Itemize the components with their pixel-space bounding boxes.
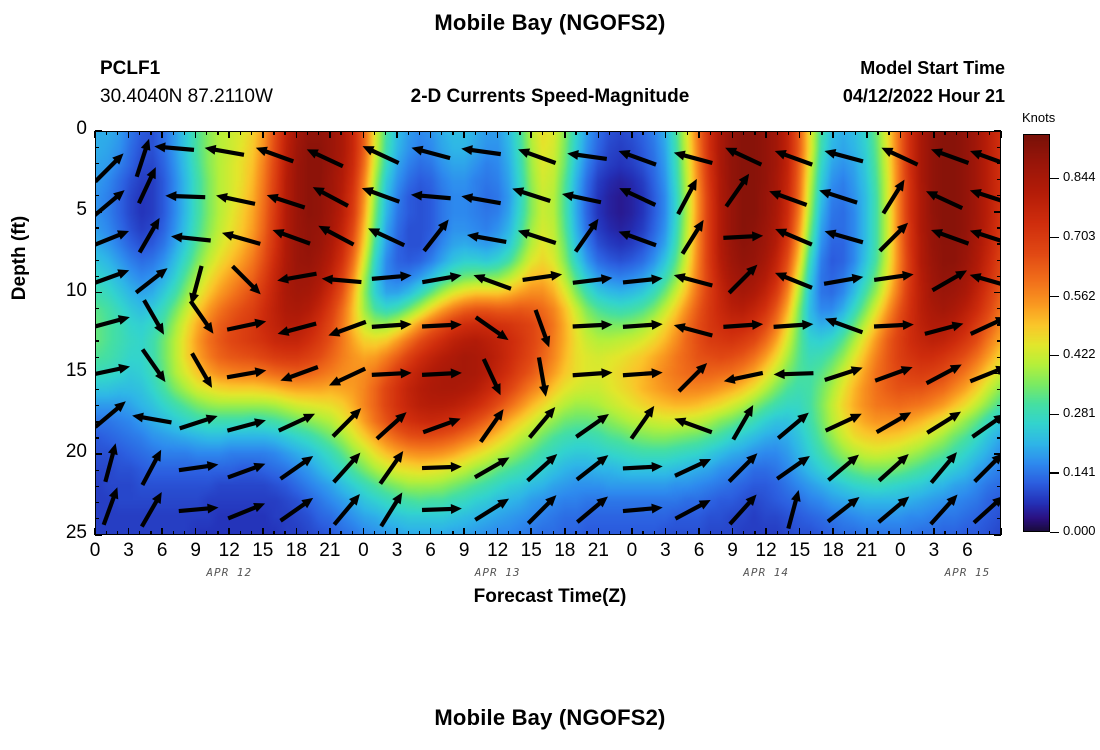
- current-vector-arrow: [567, 150, 607, 160]
- x-axis-minor-tick: [240, 131, 241, 135]
- current-vector-arrow: [777, 456, 810, 479]
- current-vector-arrow: [825, 318, 863, 333]
- current-vector-arrow: [481, 409, 504, 442]
- current-vector-arrow: [576, 414, 609, 437]
- current-vector-arrow: [278, 324, 317, 336]
- current-vector-arrow: [674, 418, 712, 433]
- current-vector-arrow: [819, 189, 857, 203]
- x-axis-minor-tick: [676, 531, 677, 535]
- x-axis-tick: [1000, 131, 1002, 138]
- x-axis-tick: [967, 528, 969, 535]
- current-vector-arrow: [368, 228, 404, 245]
- x-axis-tick: [598, 131, 600, 138]
- current-vector-arrow: [775, 150, 812, 165]
- current-vector-arrow: [476, 317, 509, 340]
- current-vector-arrow: [925, 322, 964, 334]
- current-vector-arrow: [972, 414, 1000, 437]
- current-vector-arrow: [539, 357, 549, 396]
- current-vector-arrow: [778, 413, 809, 439]
- x-axis-tick: [832, 528, 834, 535]
- current-vector-arrow: [576, 219, 599, 252]
- current-vector-arrow: [724, 373, 763, 384]
- current-vector-arrow: [828, 497, 859, 522]
- y-axis-minor-tick: [997, 260, 1001, 261]
- x-axis-minor-tick: [978, 531, 979, 535]
- x-axis-minor-tick: [922, 131, 923, 135]
- x-axis-minor-tick: [273, 531, 274, 535]
- y-axis-minor-tick: [95, 340, 99, 341]
- current-vector-arrow: [381, 492, 402, 526]
- x-axis-tick: [598, 528, 600, 535]
- x-axis-minor-tick: [844, 131, 845, 135]
- x-axis-title: Forecast Time(Z): [0, 586, 1100, 608]
- x-axis-tick: [530, 131, 532, 138]
- colorbar-tick-label: 0.844: [1063, 169, 1096, 184]
- x-axis-tick: [933, 528, 935, 535]
- x-axis-minor-tick: [508, 131, 509, 135]
- y-axis-tick-label: 10: [41, 280, 87, 302]
- current-vector-arrow: [623, 320, 663, 330]
- x-axis-tick: [128, 131, 130, 138]
- current-vector-arrow: [875, 366, 912, 381]
- current-vector-arrow: [411, 146, 450, 158]
- y-axis-title: Depth (ft): [9, 216, 31, 300]
- current-vector-arrow: [931, 229, 968, 244]
- x-axis-minor-tick: [139, 131, 140, 135]
- current-vector-arrow: [879, 454, 909, 481]
- x-axis-minor-tick: [821, 131, 822, 135]
- y-axis-minor-tick: [95, 243, 99, 244]
- current-vector-arrow: [475, 457, 510, 477]
- x-axis-tick-label: 6: [947, 540, 987, 562]
- current-vector-arrow: [528, 454, 558, 481]
- current-vector-arrow: [623, 462, 663, 472]
- current-vector-arrow: [322, 275, 362, 285]
- current-vector-arrow: [422, 368, 462, 378]
- x-axis-tick: [363, 528, 365, 535]
- x-axis-minor-tick: [385, 531, 386, 535]
- y-axis-minor-tick: [997, 308, 1001, 309]
- current-vector-arrow: [96, 230, 129, 246]
- y-axis-tick-label: 15: [41, 360, 87, 382]
- x-axis-minor-tick: [307, 131, 308, 135]
- current-vector-arrow: [824, 149, 863, 161]
- current-vector-arrow: [165, 191, 205, 201]
- x-axis-minor-tick: [139, 531, 140, 535]
- x-axis-day-label: APR 15: [907, 566, 1027, 579]
- x-axis-minor-tick: [318, 531, 319, 535]
- current-vector-arrow: [623, 504, 663, 514]
- x-axis-minor-tick: [251, 531, 252, 535]
- x-axis-minor-tick: [419, 531, 420, 535]
- current-vector-arrow: [411, 191, 451, 201]
- x-axis-minor-tick: [374, 131, 375, 135]
- y-axis-minor-tick: [95, 163, 99, 164]
- x-axis-tick: [262, 528, 264, 535]
- current-vector-arrow: [144, 300, 164, 335]
- x-axis-minor-tick: [911, 131, 912, 135]
- current-vector-arrow: [96, 315, 130, 327]
- x-axis-minor-tick: [452, 131, 453, 135]
- y-axis-minor-tick: [95, 470, 99, 471]
- x-axis-minor-tick: [989, 131, 990, 135]
- x-axis-minor-tick: [206, 531, 207, 535]
- x-axis-minor-tick: [788, 531, 789, 535]
- x-axis-minor-tick: [754, 131, 755, 135]
- current-vector-arrow: [132, 413, 171, 423]
- x-axis-minor-tick: [117, 531, 118, 535]
- current-vector-arrow: [679, 363, 707, 391]
- x-axis-minor-tick: [956, 131, 957, 135]
- x-axis-minor-tick: [810, 531, 811, 535]
- current-vector-arrow: [512, 187, 550, 201]
- y-axis-minor-tick: [997, 437, 1001, 438]
- colorbar-tick: [1050, 178, 1059, 179]
- x-axis-minor-tick: [340, 531, 341, 535]
- x-axis-minor-tick: [620, 531, 621, 535]
- current-vector-arrow: [96, 269, 129, 284]
- current-vector-arrow: [971, 317, 1000, 334]
- x-axis-minor-tick: [922, 531, 923, 535]
- colorbar-tick-label: 0.141: [1063, 464, 1096, 479]
- x-axis-minor-tick: [419, 131, 420, 135]
- y-axis-minor-tick: [95, 324, 99, 325]
- current-vector-arrow: [826, 414, 862, 431]
- x-axis-minor-tick: [810, 131, 811, 135]
- x-axis-tick: [967, 131, 969, 138]
- x-axis-day-label: APR 12: [169, 566, 289, 579]
- y-axis-minor-tick: [997, 486, 1001, 487]
- current-vector-arrow: [137, 139, 151, 177]
- x-axis-day-label: APR 14: [706, 566, 826, 579]
- current-vector-arrow: [191, 301, 214, 334]
- x-axis-minor-tick: [217, 131, 218, 135]
- x-axis-tick: [363, 131, 365, 138]
- y-axis-minor-tick: [997, 340, 1001, 341]
- y-axis-minor-tick: [997, 518, 1001, 519]
- current-vector-arrow: [104, 487, 119, 525]
- current-vector-arrow: [154, 142, 194, 152]
- y-axis-minor-tick: [95, 405, 99, 406]
- page-title-bottom: Mobile Bay (NGOFS2): [0, 705, 1100, 731]
- x-axis-minor-tick: [519, 131, 520, 135]
- current-vector-arrow: [179, 504, 219, 514]
- current-vector-arrow: [227, 418, 266, 430]
- x-axis-minor-tick: [284, 531, 285, 535]
- y-axis-tick: [95, 373, 102, 375]
- x-axis-minor-tick: [408, 531, 409, 535]
- current-vector-arrow: [179, 461, 219, 471]
- current-vector-arrow: [233, 266, 261, 294]
- x-axis-tick: [128, 528, 130, 535]
- current-vector-arrow: [136, 268, 167, 293]
- current-vector-arrow: [932, 270, 967, 290]
- y-axis-tick: [994, 373, 1001, 375]
- y-axis-minor-tick: [997, 389, 1001, 390]
- y-axis-minor-tick: [997, 357, 1001, 358]
- x-axis-minor-tick: [877, 531, 878, 535]
- x-axis-minor-tick: [475, 131, 476, 135]
- colorbar-tick: [1050, 296, 1059, 297]
- x-axis-minor-tick: [340, 131, 341, 135]
- x-axis-minor-tick: [911, 531, 912, 535]
- current-vector-arrow: [729, 265, 757, 293]
- current-vector-arrow: [682, 220, 703, 254]
- y-axis-tick-label: 20: [41, 441, 87, 463]
- x-axis-minor-tick: [978, 131, 979, 135]
- current-vector-arrow: [518, 148, 556, 163]
- y-axis-tick: [95, 453, 102, 455]
- current-vector-arrow: [970, 150, 1000, 165]
- current-vector-arrow: [877, 412, 912, 432]
- model-start-time-label: Model Start Time: [700, 58, 1005, 79]
- x-axis-tick: [698, 131, 700, 138]
- x-axis-tick: [866, 131, 868, 138]
- x-axis-tick: [698, 528, 700, 535]
- x-axis-tick: [463, 528, 465, 535]
- x-axis-minor-tick: [408, 131, 409, 135]
- current-vector-arrow: [334, 494, 360, 525]
- y-axis-minor-tick: [95, 437, 99, 438]
- x-axis-minor-tick: [855, 531, 856, 535]
- current-vector-arrow: [422, 272, 461, 282]
- x-axis-minor-tick: [989, 531, 990, 535]
- current-vector-arrow: [227, 319, 266, 330]
- current-vector-arrow: [970, 229, 1000, 243]
- x-axis-tick: [195, 131, 197, 138]
- current-vector-arrow: [775, 272, 812, 287]
- y-axis-minor-tick: [997, 243, 1001, 244]
- current-vector-arrow: [723, 320, 763, 330]
- x-axis-minor-tick: [519, 531, 520, 535]
- current-vector-arrow: [623, 368, 663, 378]
- y-axis-minor-tick: [95, 308, 99, 309]
- current-vector-arrow: [675, 500, 710, 519]
- current-vector-arrow: [256, 147, 293, 162]
- current-vector-arrow: [573, 320, 613, 330]
- colorbar-tick: [1050, 355, 1059, 356]
- x-axis-tick: [732, 131, 734, 138]
- page-title-top: Mobile Bay (NGOFS2): [0, 10, 1100, 36]
- x-axis-tick: [564, 131, 566, 138]
- current-vector-arrow: [424, 220, 449, 251]
- current-vector-arrow: [372, 320, 412, 330]
- heatmap-plot-area: [95, 131, 1001, 535]
- current-vector-arrow: [523, 271, 563, 281]
- current-vector-arrow: [142, 450, 161, 485]
- y-axis-minor-tick: [95, 357, 99, 358]
- y-axis-minor-tick: [997, 405, 1001, 406]
- x-axis-minor-tick: [486, 131, 487, 135]
- current-vector-arrow: [96, 401, 126, 427]
- current-vector-arrow: [139, 167, 156, 203]
- current-vector-arrow: [970, 273, 1000, 286]
- current-vector-arrow: [927, 412, 961, 433]
- x-axis-minor-tick: [284, 131, 285, 135]
- current-vector-arrow: [825, 366, 863, 380]
- current-vector-arrow: [970, 189, 1000, 203]
- x-axis-tick: [296, 528, 298, 535]
- current-vector-arrow: [334, 453, 361, 483]
- current-vector-arrow: [518, 229, 556, 243]
- x-axis-tick: [396, 528, 398, 535]
- current-vector-arrow: [281, 498, 314, 521]
- y-axis-minor-tick: [997, 276, 1001, 277]
- x-axis-minor-tick: [206, 131, 207, 135]
- current-vector-arrow: [577, 496, 608, 522]
- y-axis-minor-tick: [997, 195, 1001, 196]
- x-axis-minor-tick: [184, 131, 185, 135]
- current-vector-arrow: [228, 503, 265, 518]
- y-axis-minor-tick: [95, 276, 99, 277]
- current-vector-arrow: [573, 368, 613, 378]
- x-axis-minor-tick: [609, 131, 610, 135]
- x-axis-minor-tick: [609, 531, 610, 535]
- x-axis-minor-tick: [542, 531, 543, 535]
- current-vector-arrow: [883, 180, 904, 214]
- y-axis-minor-tick: [997, 179, 1001, 180]
- y-axis-minor-tick: [95, 147, 99, 148]
- current-vector-arrow: [788, 490, 800, 529]
- x-axis-minor-tick: [654, 131, 655, 135]
- x-axis-minor-tick: [575, 131, 576, 135]
- current-vector-arrow: [180, 415, 218, 429]
- x-axis-minor-tick: [553, 131, 554, 135]
- x-axis-minor-tick: [452, 531, 453, 535]
- x-axis-minor-tick: [777, 131, 778, 135]
- current-vector-arrow: [313, 187, 348, 206]
- current-vector-arrow: [775, 229, 812, 245]
- x-axis-tick: [94, 131, 96, 138]
- model-start-time-value: 04/12/2022 Hour 21: [700, 86, 1005, 107]
- x-axis-minor-tick: [542, 131, 543, 135]
- current-vector-arrow: [96, 153, 124, 181]
- current-vector-arrow: [927, 364, 962, 383]
- current-vector-arrows: [96, 132, 1000, 535]
- x-axis-tick: [631, 131, 633, 138]
- x-axis-tick: [161, 528, 163, 535]
- current-vector-arrow: [333, 408, 361, 436]
- y-axis-tick: [994, 534, 1001, 536]
- current-vector-arrow: [674, 151, 713, 163]
- current-vector-arrow: [473, 274, 510, 289]
- current-vector-arrow: [619, 231, 656, 246]
- x-axis-tick: [799, 528, 801, 535]
- current-vector-arrow: [931, 148, 968, 163]
- y-axis-minor-tick: [95, 260, 99, 261]
- current-vector-arrow: [562, 191, 601, 202]
- x-axis-minor-tick: [441, 131, 442, 135]
- x-axis-tick: [866, 528, 868, 535]
- x-axis-minor-tick: [150, 131, 151, 135]
- x-axis-tick: [732, 528, 734, 535]
- current-vector-arrow: [216, 193, 255, 204]
- current-vector-arrow: [377, 412, 407, 439]
- x-axis-minor-tick: [721, 131, 722, 135]
- x-axis-minor-tick: [575, 531, 576, 535]
- colorbar-tick: [1050, 237, 1059, 238]
- x-axis-tick: [631, 528, 633, 535]
- x-axis-tick: [195, 528, 197, 535]
- y-axis-minor-tick: [95, 227, 99, 228]
- current-vector-arrow: [723, 231, 763, 241]
- x-axis-minor-tick: [743, 531, 744, 535]
- x-axis-minor-tick: [956, 531, 957, 535]
- y-axis-minor-tick: [997, 147, 1001, 148]
- x-axis-tick: [665, 528, 667, 535]
- current-vector-arrow: [619, 150, 656, 165]
- x-axis-minor-tick: [184, 531, 185, 535]
- x-axis-tick: [530, 528, 532, 535]
- current-vector-arrow: [422, 320, 462, 330]
- x-axis-minor-tick: [106, 131, 107, 135]
- x-axis-minor-tick: [217, 531, 218, 535]
- x-axis-minor-tick: [710, 531, 711, 535]
- x-axis-minor-tick: [318, 131, 319, 135]
- current-vector-arrow: [280, 367, 317, 382]
- current-vector-arrow: [484, 359, 501, 395]
- x-axis-minor-tick: [150, 531, 151, 535]
- x-axis-minor-tick: [687, 531, 688, 535]
- x-axis-minor-tick: [620, 131, 621, 135]
- x-axis-minor-tick: [788, 131, 789, 135]
- y-axis-minor-tick: [95, 421, 99, 422]
- y-axis-minor-tick: [997, 470, 1001, 471]
- current-vector-arrow: [674, 273, 713, 285]
- x-axis-tick: [296, 131, 298, 138]
- x-axis-minor-tick: [654, 531, 655, 535]
- x-axis-minor-tick: [888, 131, 889, 135]
- current-vector-arrow: [105, 443, 117, 482]
- x-axis-minor-tick: [441, 531, 442, 535]
- y-axis-tick: [994, 453, 1001, 455]
- x-axis-minor-tick: [307, 531, 308, 535]
- current-vector-arrow: [774, 320, 814, 330]
- current-vector-arrow: [362, 187, 400, 202]
- x-axis-minor-tick: [273, 131, 274, 135]
- current-vector-arrow: [192, 353, 212, 388]
- current-vector-arrow: [281, 456, 314, 479]
- x-axis-minor-tick: [844, 531, 845, 535]
- x-axis-tick: [933, 131, 935, 138]
- current-vector-arrow: [577, 455, 608, 480]
- current-vector-arrow: [307, 149, 343, 166]
- current-vector-arrow: [142, 492, 162, 527]
- x-axis-minor-tick: [106, 531, 107, 535]
- y-axis-minor-tick: [997, 227, 1001, 228]
- x-axis-tick: [765, 131, 767, 138]
- x-axis-minor-tick: [586, 131, 587, 135]
- colorbar-tick: [1050, 472, 1059, 473]
- current-vector-arrow: [931, 452, 957, 483]
- current-vector-arrow: [372, 368, 412, 378]
- y-axis-minor-tick: [95, 486, 99, 487]
- x-axis-day-label: APR 13: [438, 566, 558, 579]
- y-axis-tick-label: 25: [41, 522, 87, 544]
- colorbar-tick-label: 0.562: [1063, 288, 1096, 303]
- current-vector-arrow: [880, 223, 908, 251]
- current-vector-arrow: [329, 369, 365, 386]
- colorbar-tick: [1050, 532, 1059, 533]
- x-axis-minor-tick: [676, 131, 677, 135]
- x-axis-minor-tick: [743, 131, 744, 135]
- y-axis-tick: [95, 534, 102, 536]
- colorbar: [1023, 134, 1050, 532]
- y-axis-tick: [95, 211, 102, 213]
- y-axis-minor-tick: [95, 389, 99, 390]
- current-vector-arrow: [975, 453, 1000, 481]
- y-axis-minor-tick: [95, 502, 99, 503]
